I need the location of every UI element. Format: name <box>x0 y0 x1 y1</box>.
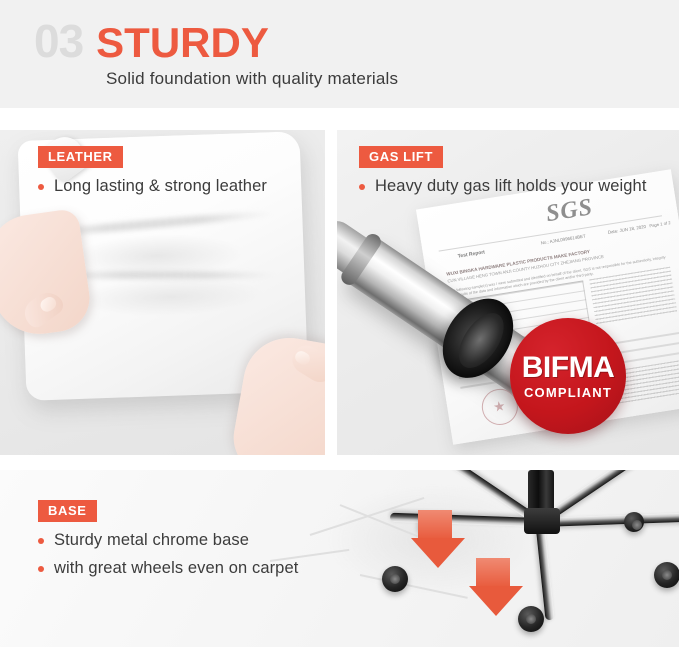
panel-base: BASE Sturdy metal chrome base with great… <box>0 470 679 647</box>
infographic-page: 03 STURDY Solid foundation with quality … <box>0 0 679 647</box>
page-subtitle: Solid foundation with quality materials <box>106 69 398 89</box>
panel-gas-lift: SGS Test Report No.: AJNL0996614BET Date… <box>337 130 679 455</box>
badge-title: BIFMA <box>522 353 614 383</box>
bullet-text: Heavy duty gas lift holds your weight <box>375 177 647 196</box>
sgs-logo: SGS <box>544 194 595 228</box>
chip-base: BASE <box>38 500 97 522</box>
base-hub <box>524 508 560 534</box>
list-item: with great wheels even on carpet <box>38 559 298 578</box>
caster-wheel <box>654 562 679 588</box>
doc-report-label: Test Report <box>457 249 485 259</box>
bullet-text: Sturdy metal chrome base <box>54 531 249 550</box>
caster-wheel <box>382 566 408 592</box>
header-band: 03 STURDY Solid foundation with quality … <box>0 0 679 108</box>
base-text-block: BASE Sturdy metal chrome base with great… <box>38 500 298 578</box>
bullet-dot-icon <box>38 538 44 544</box>
force-arrow-shaft <box>476 558 510 588</box>
bifma-compliant-badge: BIFMA COMPLIANT <box>510 318 626 434</box>
base-bullet-list: Sturdy metal chrome base with great whee… <box>38 531 298 578</box>
list-item: Heavy duty gas lift holds your weight <box>359 177 647 196</box>
bullet-dot-icon <box>359 184 365 190</box>
page-title: STURDY <box>96 22 269 64</box>
force-arrow-head-icon <box>411 538 465 568</box>
step-number: 03 <box>34 18 83 64</box>
crack-line <box>360 574 468 599</box>
doc-date: Date: JUN 18, 2020 <box>608 224 647 235</box>
doc-report-no: No.: AJNL0996614BET <box>540 233 586 245</box>
panel-leather: LEATHER Long lasting & strong leather <box>0 130 325 455</box>
left-hand <box>0 208 94 340</box>
caster-wheel <box>624 512 644 532</box>
header-title-row: 03 STURDY <box>34 18 269 64</box>
bullet-text: Long lasting & strong leather <box>54 177 267 196</box>
chip-leather: LEATHER <box>38 146 123 168</box>
list-item: Long lasting & strong leather <box>38 177 267 196</box>
chip-gas-lift: GAS LIFT <box>359 146 443 168</box>
leather-bullet-list: Long lasting & strong leather <box>38 177 267 196</box>
list-item: Sturdy metal chrome base <box>38 531 298 550</box>
leather-text-block: LEATHER Long lasting & strong leather <box>38 146 267 196</box>
bullet-dot-icon <box>38 184 44 190</box>
gas-lift-text-block: GAS LIFT Heavy duty gas lift holds your … <box>359 146 647 196</box>
gas-lift-bullet-list: Heavy duty gas lift holds your weight <box>359 177 647 196</box>
force-arrow-head-icon <box>469 586 523 616</box>
force-arrow-shaft <box>418 510 452 540</box>
badge-subtitle: COMPLIANT <box>524 386 612 399</box>
doc-page: Page 1 of 2 <box>649 220 671 228</box>
bullet-dot-icon <box>38 566 44 572</box>
bullet-text: with great wheels even on carpet <box>54 559 298 578</box>
